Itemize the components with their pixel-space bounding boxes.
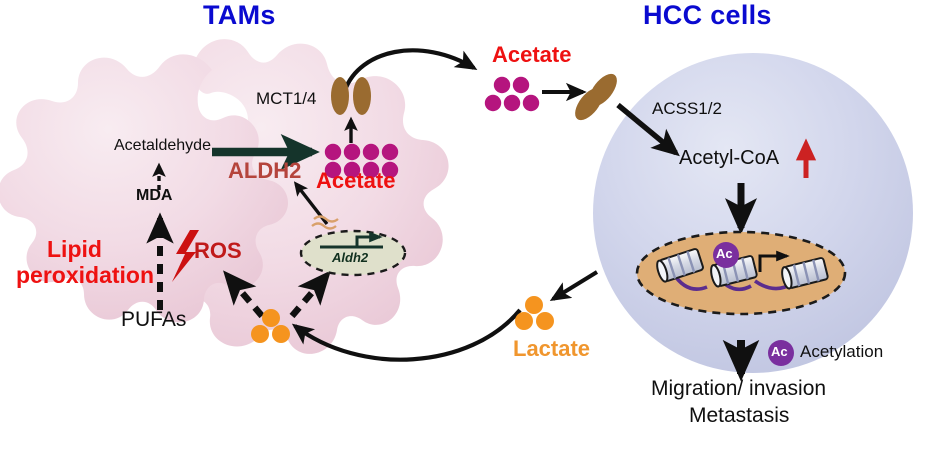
extracellular-lactate-dots bbox=[515, 296, 554, 330]
legend-acetylation-label: Acetylation bbox=[800, 343, 883, 360]
pufas-label: PUFAs bbox=[121, 309, 186, 330]
lipid-peroxidation-line1: Lipid bbox=[47, 238, 102, 261]
acetaldehyde-label: Acetaldehyde bbox=[114, 138, 211, 154]
hcc-cells-title: HCC cells bbox=[643, 2, 772, 29]
aldh2-enzyme-label: ALDH2 bbox=[228, 160, 301, 182]
outcome-line1: Migration/ invasion bbox=[651, 378, 826, 399]
tam-acetate-label: Acetate bbox=[316, 170, 395, 192]
acetyl-coa-label: Acetyl-CoA bbox=[679, 148, 779, 168]
legend-ac-badge-label: Ac bbox=[771, 345, 788, 358]
mct-label: MCT1/4 bbox=[256, 90, 316, 107]
pathway-figure: TAMs HCC cells Acetaldehyde MCT1/4 ALDH2… bbox=[0, 0, 929, 464]
aldh2-gene-label: Aldh2 bbox=[332, 251, 368, 264]
ros-label: ROS bbox=[194, 240, 242, 262]
mda-label: MDA bbox=[136, 188, 172, 204]
ac-badge-nucleus-label: Ac bbox=[716, 247, 733, 260]
extracellular-acetate-dots bbox=[485, 77, 539, 111]
extracellular-acetate-label: Acetate bbox=[492, 44, 571, 66]
outcome-line2: Metastasis bbox=[689, 405, 789, 426]
lactate-efflux-arrow bbox=[553, 272, 597, 299]
mct-transporter-left bbox=[331, 77, 349, 115]
lipid-peroxidation-line2: peroxidation bbox=[16, 264, 154, 287]
extracellular-lactate-label: Lactate bbox=[513, 338, 590, 360]
hcc-cell-body bbox=[593, 53, 913, 373]
tams-title: TAMs bbox=[203, 2, 276, 29]
acss-label: ACSS1/2 bbox=[652, 100, 722, 117]
mct-transporter-right bbox=[353, 77, 371, 115]
